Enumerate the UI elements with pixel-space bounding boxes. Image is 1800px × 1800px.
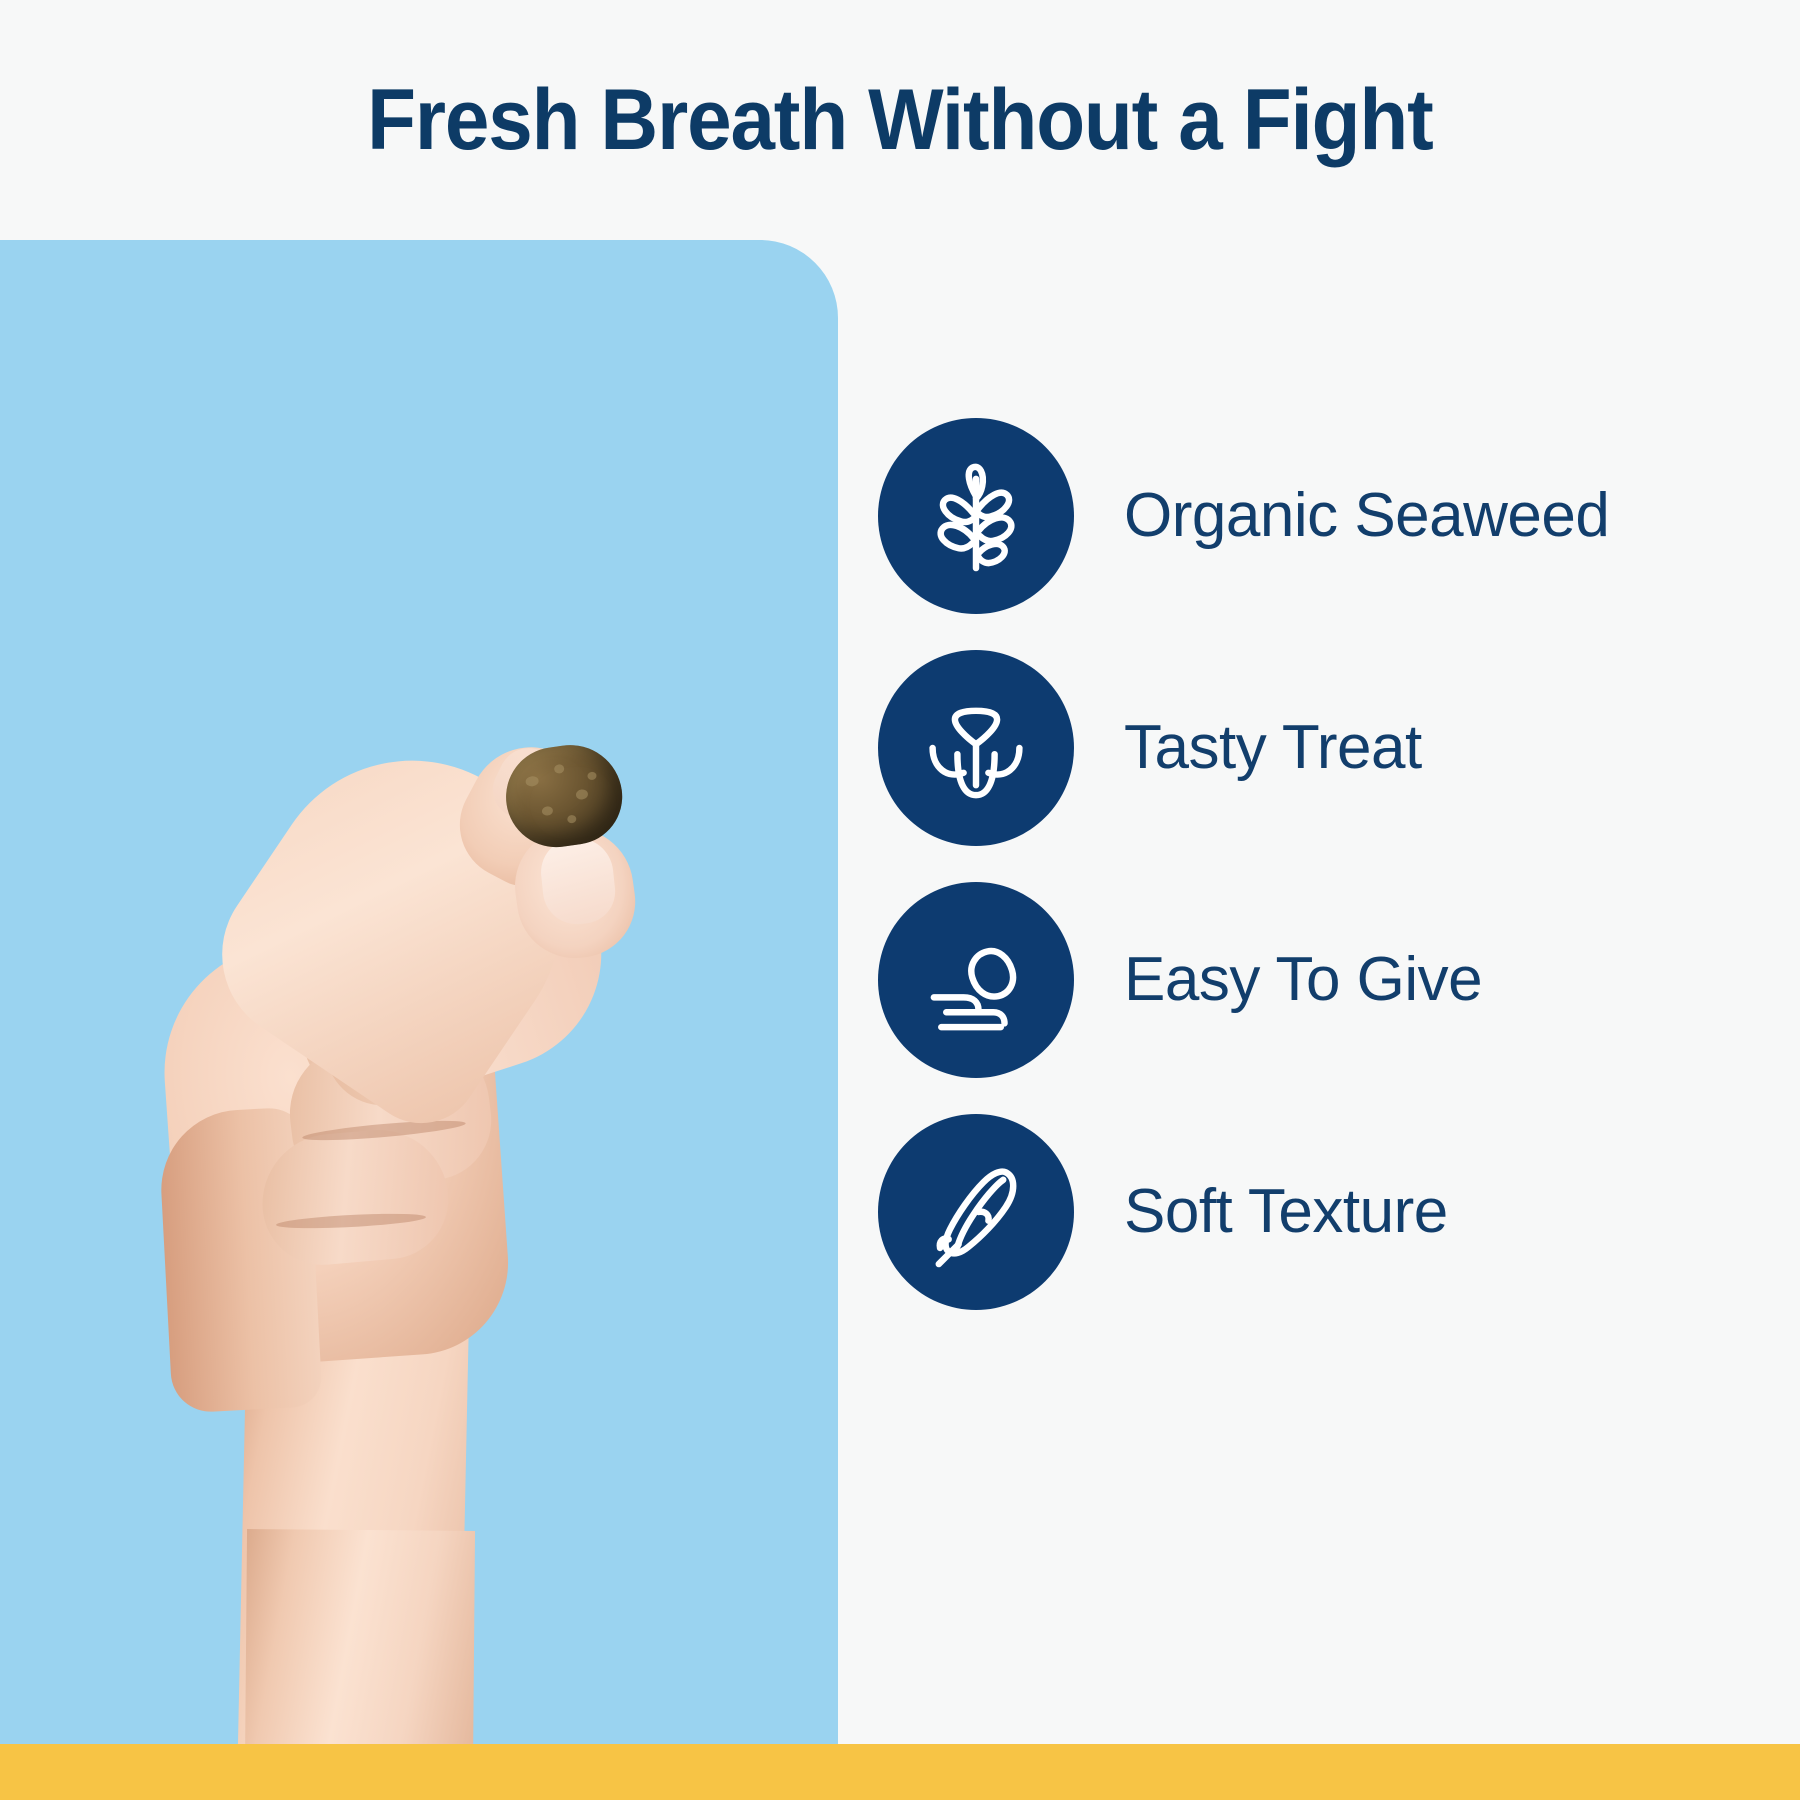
feather-icon [878,1114,1074,1310]
seaweed-icon [878,418,1074,614]
hand-with-treat-icon [878,882,1074,1078]
infographic-canvas: Fresh Breath Without a Fight [0,0,1800,1800]
footer-accent-bar [0,1744,1800,1800]
feature-label: Soft Texture [1124,1181,1448,1243]
feature-label: Easy To Give [1124,949,1482,1011]
page-title: Fresh Breath Without a Fight [367,77,1433,163]
title-bar: Fresh Breath Without a Fight [0,0,1800,240]
feature-item-organic-seaweed[interactable]: Organic Seaweed [878,400,1758,632]
product-photo [0,240,838,1746]
feature-list: Organic Seaweed Tasty Treat [878,400,1758,1328]
feature-item-soft-texture[interactable]: Soft Texture [878,1096,1758,1328]
feature-item-easy-to-give[interactable]: Easy To Give [878,864,1758,1096]
feature-label: Tasty Treat [1124,717,1422,779]
feature-label: Organic Seaweed [1124,485,1609,547]
feature-item-tasty-treat[interactable]: Tasty Treat [878,632,1758,864]
dog-nose-icon [878,650,1074,846]
forearm-lower [245,1529,475,1746]
